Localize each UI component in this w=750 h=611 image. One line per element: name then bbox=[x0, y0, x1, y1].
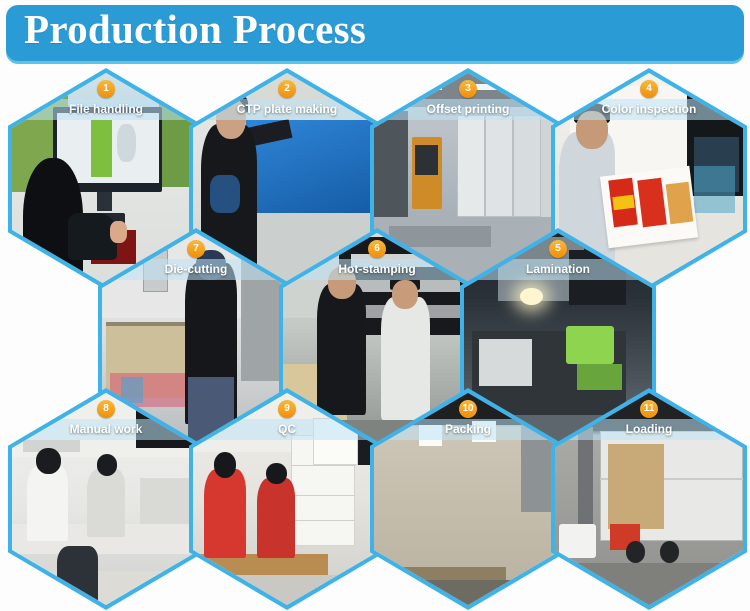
page-title: Production Process bbox=[24, 3, 366, 55]
step-label: Offset printing bbox=[374, 99, 562, 120]
step-number-badge: 7 bbox=[187, 240, 205, 258]
step-number-badge: 3 bbox=[459, 80, 477, 98]
process-hex-grid: File handling 1 CTP plate making 2 bbox=[0, 66, 750, 611]
step-label: File handling bbox=[12, 99, 200, 120]
step-number-badge: 11 bbox=[640, 400, 658, 418]
step-number-badge: 4 bbox=[640, 80, 658, 98]
step-number-badge: 10 bbox=[459, 400, 477, 418]
step-label: Color inspection bbox=[555, 99, 743, 120]
step-number-badge: 5 bbox=[549, 240, 567, 258]
production-process-infographic: Production Process File handling bbox=[0, 0, 750, 611]
step-number-badge: 1 bbox=[97, 80, 115, 98]
step-number-badge: 8 bbox=[97, 400, 115, 418]
step-number-badge: 2 bbox=[278, 80, 296, 98]
step-number-badge: 9 bbox=[278, 400, 296, 418]
step-label: CTP plate making bbox=[193, 99, 381, 120]
step-number-badge: 6 bbox=[368, 240, 386, 258]
